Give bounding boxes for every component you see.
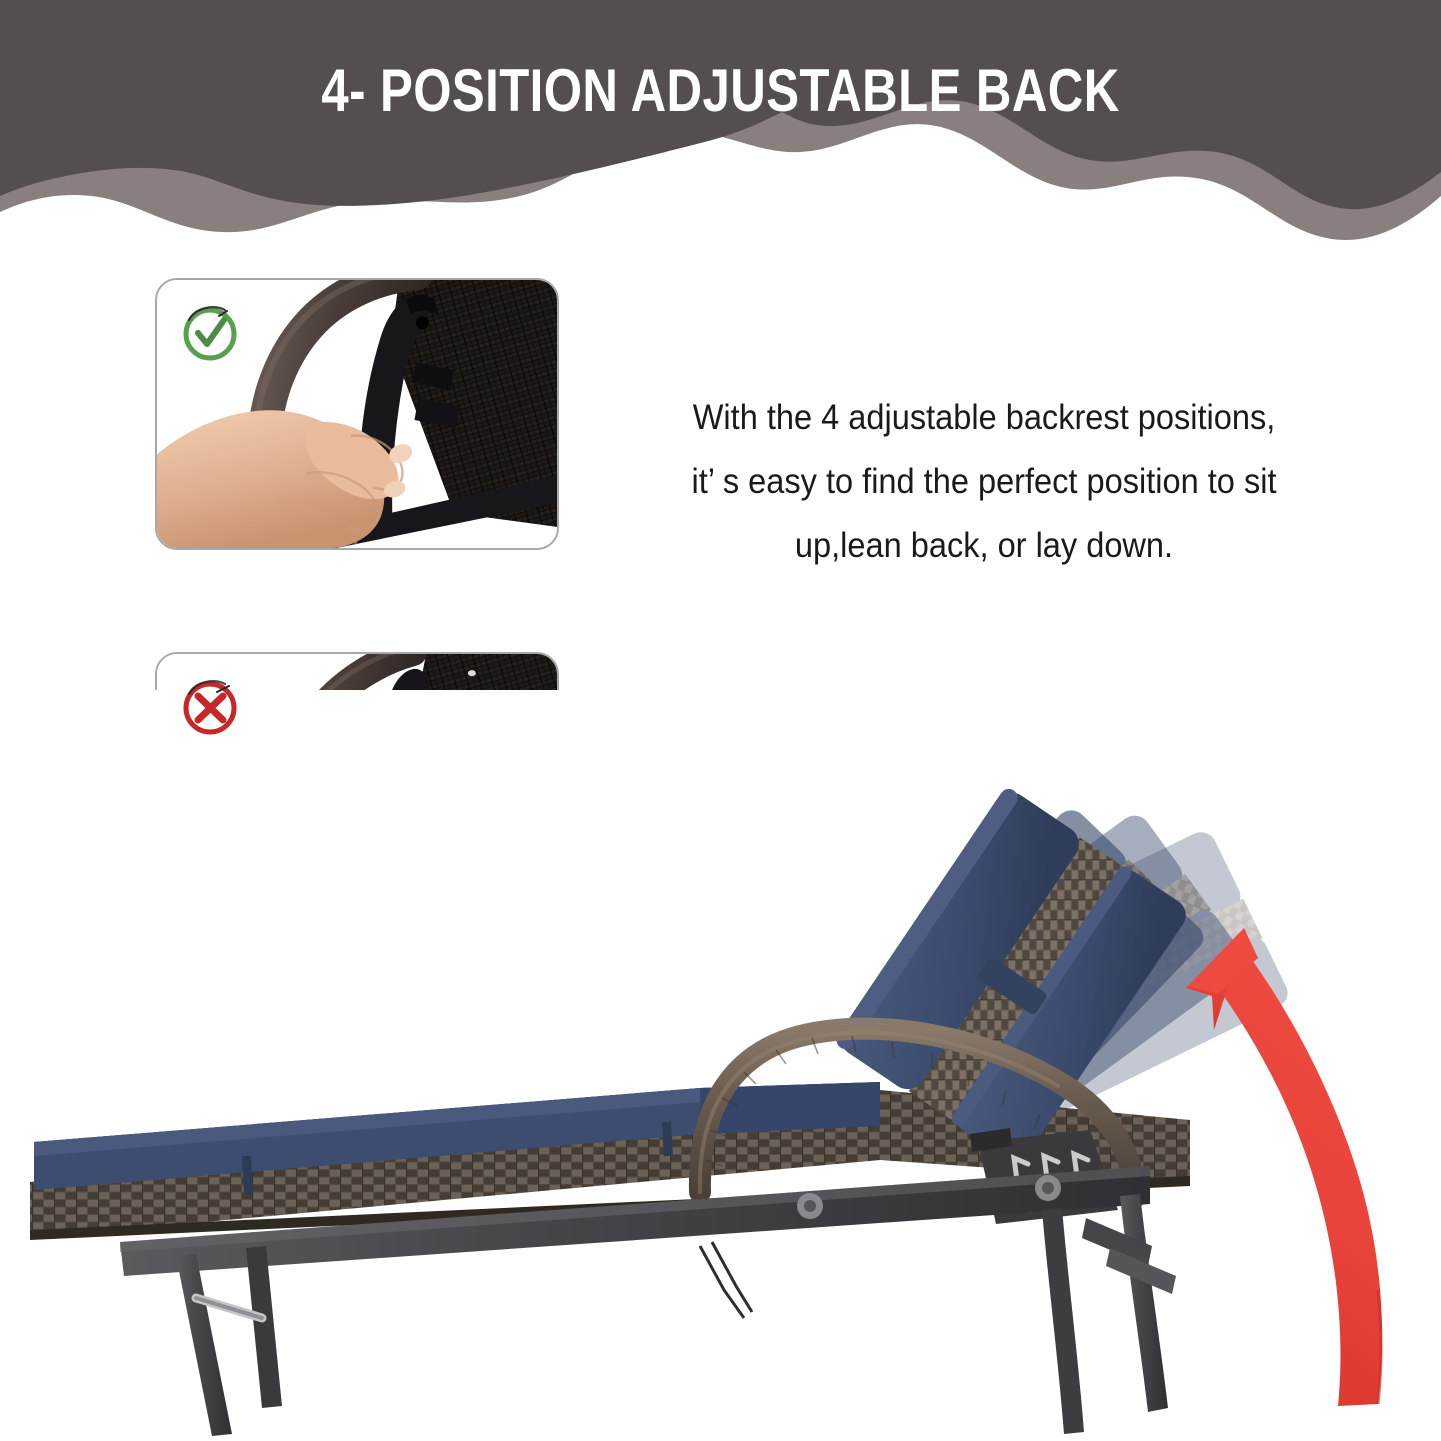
product-infographic: 4- POSITION ADJUSTABLE BACK xyxy=(0,0,1441,1441)
description-line-3: up,lean back, or lay down. xyxy=(612,514,1356,578)
header-banner: 4- POSITION ADJUSTABLE BACK xyxy=(0,0,1441,270)
x-circle-icon xyxy=(179,676,241,738)
header-wave-graphic xyxy=(0,0,1441,270)
description-line-2: it’ s easy to find the perfect position … xyxy=(612,450,1356,514)
description-paragraph: With the 4 adjustable backrest positions… xyxy=(612,386,1356,578)
check-circle-icon xyxy=(179,302,241,364)
chaise-lounge-illustration xyxy=(0,690,1441,1441)
chaise-lounge-graphic xyxy=(0,690,1441,1441)
description-line-1: With the 4 adjustable backrest positions… xyxy=(612,386,1356,450)
inset-photo-correct xyxy=(155,278,559,550)
